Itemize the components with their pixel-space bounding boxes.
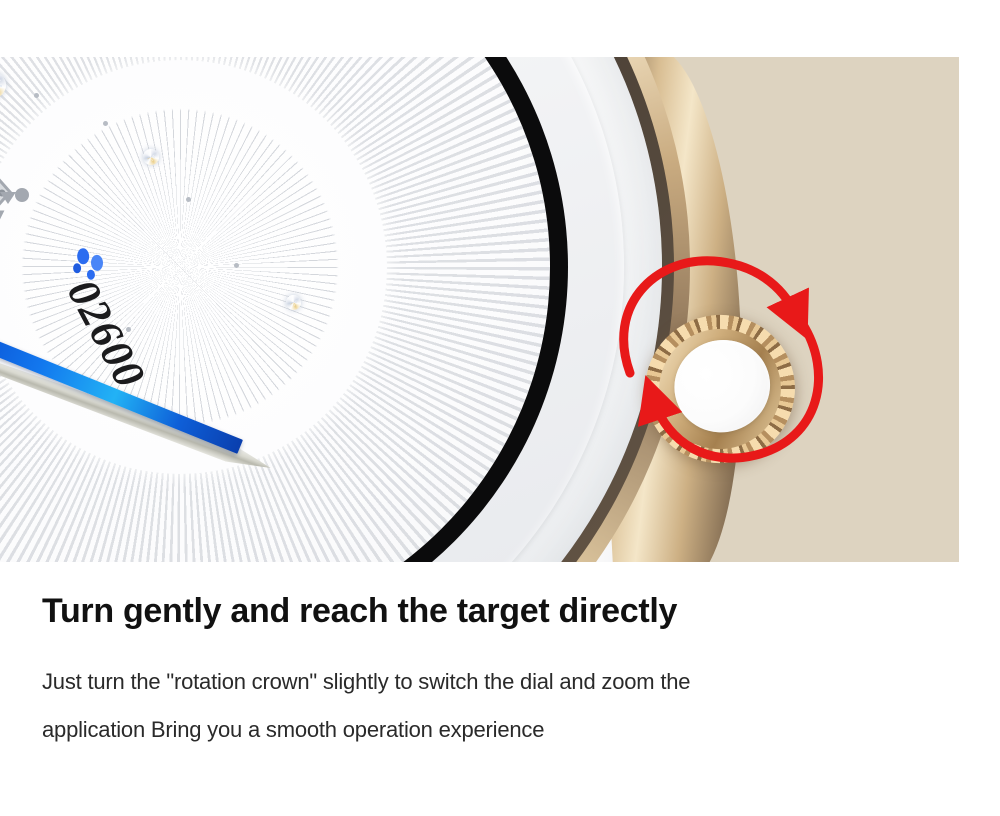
- ornate-crest-emblem: [0, 162, 30, 236]
- hero-product-image: 02600 ★ ★ ★ ★ ★: [0, 57, 959, 562]
- feature-description: Just turn the "rotation crown" slightly …: [42, 658, 902, 754]
- watch-case: 02600 ★ ★ ★ ★ ★: [0, 57, 690, 562]
- dial-dot: [234, 263, 239, 268]
- diamond-hour-marker: [286, 295, 301, 310]
- dial-dot: [34, 93, 39, 98]
- description-line-1: Just turn the "rotation crown" slightly …: [42, 658, 902, 706]
- dial-dot: [103, 121, 108, 126]
- product-feature-page: 02600 ★ ★ ★ ★ ★: [0, 0, 1000, 816]
- diamond-hour-marker: [143, 149, 159, 165]
- dial-dot: [186, 197, 191, 202]
- description-line-2: application Bring you a smooth operation…: [42, 706, 902, 754]
- watch-dial: 02600 ★ ★ ★ ★ ★: [0, 57, 550, 562]
- page-title: Turn gently and reach the target directl…: [42, 592, 677, 631]
